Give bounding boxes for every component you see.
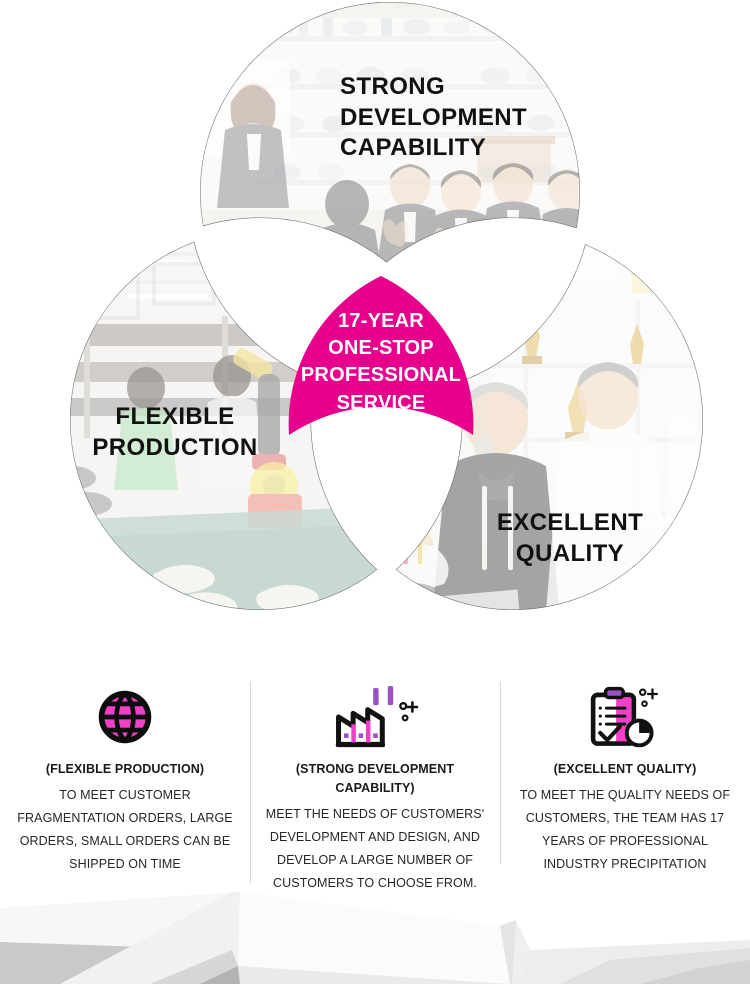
center-line-3: PROFESSIONAL xyxy=(288,362,474,389)
circle-label-quality: EXCELLENT QUALITY xyxy=(455,508,685,569)
center-line-2: ONE-STOP xyxy=(288,335,474,362)
circle-label-flexible: FLEXIBLE PRODUCTION xyxy=(60,402,290,463)
feature-flexible-production: (FLEXIBLE PRODUCTION) TO MEET CUSTOMER F… xyxy=(0,668,250,876)
factory-icon xyxy=(331,686,419,748)
feature-body: TO MEET THE QUALITY NEEDS OF CUSTOMERS, … xyxy=(514,784,736,877)
feature-title: (FLEXIBLE PRODUCTION) xyxy=(46,760,204,779)
feature-strong-development: (STRONG DEVELOPMENT CAPABILITY) MEET THE… xyxy=(250,668,500,895)
feature-title: (STRONG DEVELOPMENT CAPABILITY) xyxy=(264,760,486,798)
feature-excellent-quality: (EXCELLENT QUALITY) TO MEET THE QUALITY … xyxy=(500,668,750,876)
center-line-1: 17-YEAR xyxy=(288,308,474,335)
feature-body: TO MEET CUSTOMER FRAGMENTATION ORDERS, L… xyxy=(14,784,236,877)
feature-columns: (FLEXIBLE PRODUCTION) TO MEET CUSTOMER F… xyxy=(0,668,750,900)
center-line-4: SERVICE xyxy=(288,390,474,417)
globe-icon xyxy=(95,686,155,748)
center-badge-text: 17-YEAR ONE-STOP PROFESSIONAL SERVICE xyxy=(288,308,474,417)
infographic-root: STRONG DEVELOPMENT CAPABILITY FLEXIBLE P… xyxy=(0,0,750,984)
feature-body: MEET THE NEEDS OF CUSTOMERS' DEVELOPMENT… xyxy=(264,803,486,896)
venn-diagram: STRONG DEVELOPMENT CAPABILITY FLEXIBLE P… xyxy=(0,0,750,665)
low-poly-background xyxy=(0,890,750,984)
clipboard-check-clock-icon xyxy=(587,686,663,748)
feature-title: (EXCELLENT QUALITY) xyxy=(554,760,697,779)
circle-label-development: STRONG DEVELOPMENT CAPABILITY xyxy=(340,72,600,164)
